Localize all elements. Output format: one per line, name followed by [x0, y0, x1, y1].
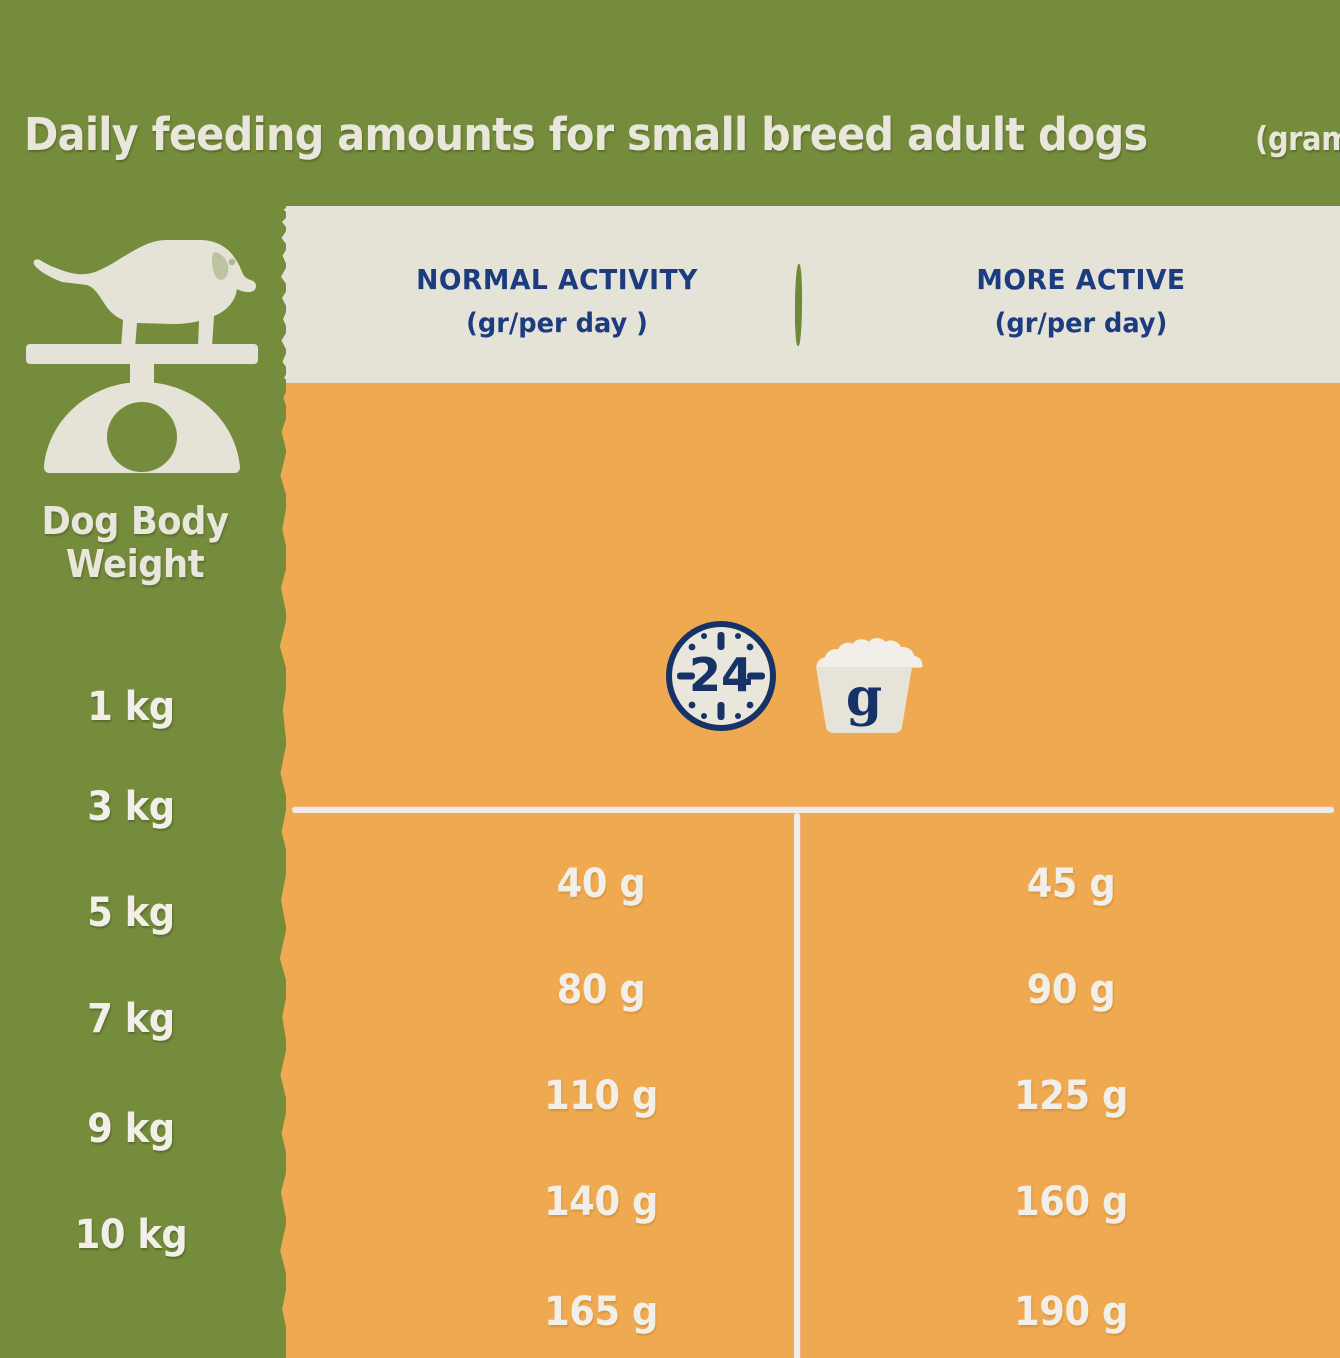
sidebar-label: Dog Body Weight — [9, 500, 260, 585]
clock-24h-icon: 24 — [664, 619, 778, 733]
column-header-normal-title: NORMAL ACTIVITY — [334, 262, 781, 298]
sidebar: Dog Body Weight 1 kg 3 kg 5 kg 7 kg 9 kg… — [0, 0, 286, 1358]
column-header-normal-unit: (gr/per day ) — [334, 306, 781, 341]
page-title-units: (grams per day): — [1255, 119, 1340, 158]
row-weight-0: 1 kg — [10, 684, 251, 730]
column-header-more-active: MORE ACTIVE (gr/per day) — [846, 262, 1316, 341]
clock-value: 24 — [689, 648, 753, 702]
column-header-more-title: MORE ACTIVE — [858, 262, 1305, 298]
row-weight-1: 3 kg — [10, 784, 251, 830]
sidebar-label-line2: Weight — [9, 543, 260, 586]
cell-more-4: 190 g — [873, 1289, 1269, 1335]
cell-more-3: 160 g — [873, 1179, 1269, 1225]
cell-more-2: 125 g — [873, 1073, 1269, 1119]
feeding-table-panel: NORMAL ACTIVITY (gr/per day ) MORE ACTIV… — [286, 206, 1340, 1358]
cell-normal-4: 165 g — [449, 1289, 753, 1335]
feeding-chart-infographic: Daily feeding amounts for small breed ad… — [0, 0, 1340, 1358]
column-header-more-unit: (gr/per day) — [858, 306, 1305, 341]
icons-row: 24 g — [286, 619, 1340, 749]
cell-more-0: 45 g — [873, 861, 1269, 907]
sidebar-label-line1: Dog Body — [9, 500, 260, 543]
header-divider-brush — [795, 264, 803, 346]
cell-normal-2: 110 g — [449, 1073, 753, 1119]
row-weight-4: 9 kg — [10, 1106, 251, 1152]
cell-normal-0: 40 g — [449, 861, 753, 907]
food-bowl-icon: g — [800, 623, 928, 733]
bowl-value: g — [846, 667, 882, 728]
cell-more-1: 90 g — [873, 967, 1269, 1013]
column-header-normal-activity: NORMAL ACTIVITY (gr/per day ) — [322, 262, 792, 341]
row-weight-5: 10 kg — [10, 1212, 251, 1258]
table-body: 24 g 40 g 80 g 110 g — [286, 383, 1340, 1358]
column-separator-line — [794, 813, 800, 1358]
cell-normal-3: 140 g — [449, 1179, 753, 1225]
header-separator-line — [292, 807, 1334, 813]
cell-normal-1: 80 g — [449, 967, 753, 1013]
dog-on-scale-icon — [18, 222, 266, 490]
table-header-band: NORMAL ACTIVITY (gr/per day ) MORE ACTIV… — [286, 206, 1340, 383]
row-weight-3: 7 kg — [10, 996, 251, 1042]
row-weight-2: 5 kg — [10, 890, 251, 936]
